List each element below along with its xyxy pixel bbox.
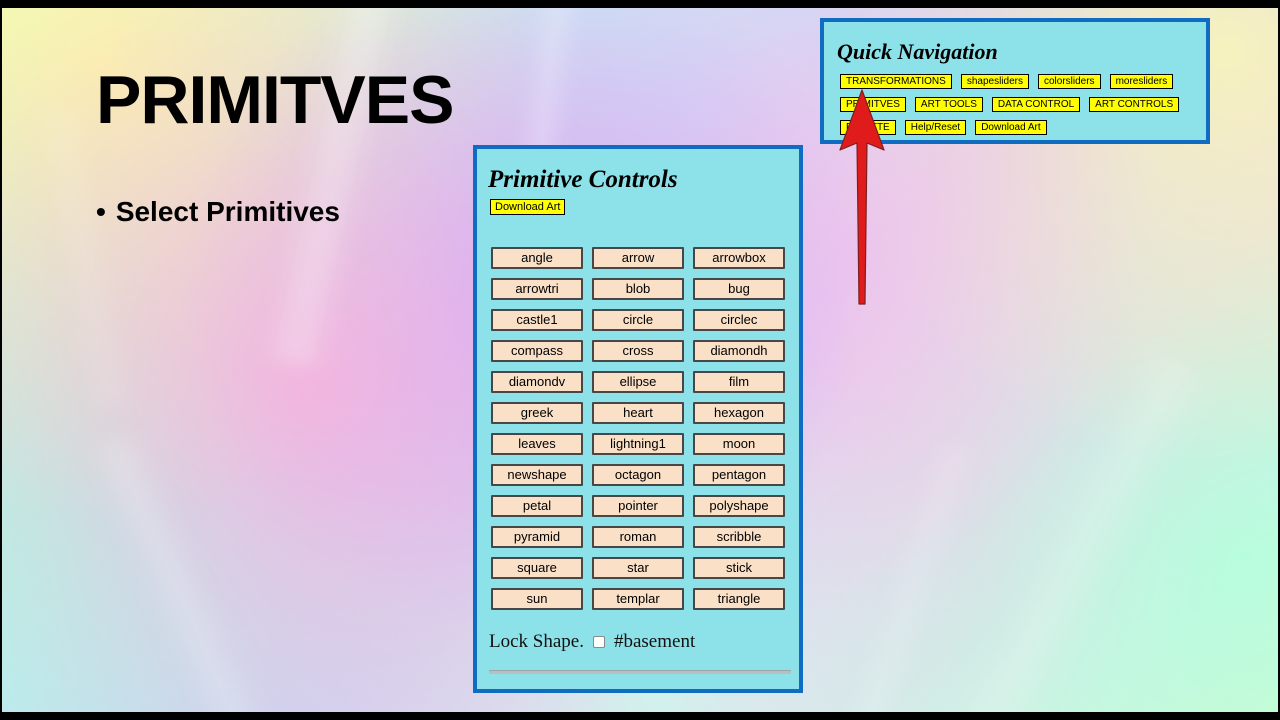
bullet-marker: •: [96, 196, 106, 227]
primitive-button-blob[interactable]: blob: [592, 278, 684, 300]
primitive-button-pointer[interactable]: pointer: [592, 495, 684, 517]
quick-navigation-buttons: TRANSFORMATIONS shapesliders colorslider…: [840, 74, 1200, 143]
primitive-controls-title: Primitive Controls: [488, 167, 678, 192]
primitive-button-stick[interactable]: stick: [693, 557, 785, 579]
nav-button-art-tools[interactable]: ART TOOLS: [915, 97, 983, 112]
primitive-button-greek[interactable]: greek: [491, 402, 583, 424]
bullet-point: •Select Primitives: [96, 196, 340, 228]
primitive-button-square[interactable]: square: [491, 557, 583, 579]
lock-shape-row: Lock Shape. #basement: [489, 631, 695, 653]
download-art-button[interactable]: Download Art: [490, 199, 565, 215]
nav-button-data-control[interactable]: DATA CONTROL: [992, 97, 1080, 112]
primitive-controls-panel: Primitive Controls Download Art anglearr…: [473, 145, 803, 693]
primitive-button-cross[interactable]: cross: [592, 340, 684, 362]
primitive-button-sun[interactable]: sun: [491, 588, 583, 610]
primitive-button-heart[interactable]: heart: [592, 402, 684, 424]
background-streak: [85, 430, 278, 712]
primitive-button-moon[interactable]: moon: [693, 433, 785, 455]
background-streak: [832, 438, 982, 712]
primitive-button-circlec[interactable]: circlec: [693, 309, 785, 331]
primitive-button-angle[interactable]: angle: [491, 247, 583, 269]
primitive-button-bug[interactable]: bug: [693, 278, 785, 300]
nav-button-help-reset[interactable]: Help/Reset: [905, 120, 966, 135]
primitive-button-diamondh[interactable]: diamondh: [693, 340, 785, 362]
primitive-button-octagon[interactable]: octagon: [592, 464, 684, 486]
primitive-button-arrowbox[interactable]: arrowbox: [693, 247, 785, 269]
primitive-button-leaves[interactable]: leaves: [491, 433, 583, 455]
quick-navigation-row: TRANSFORMATIONS shapesliders colorslider…: [840, 74, 1200, 91]
nav-button-palette[interactable]: PALETTE: [840, 120, 896, 135]
slide-canvas: PRIMITVES •Select Primitives Quick Navig…: [0, 0, 1280, 720]
nav-button-transformations[interactable]: TRANSFORMATIONS: [840, 74, 952, 89]
primitive-button-castle1[interactable]: castle1: [491, 309, 583, 331]
bullet-label: Select Primitives: [116, 196, 340, 227]
page-title: PRIMITVES: [96, 66, 454, 134]
primitive-button-scribble[interactable]: scribble: [693, 526, 785, 548]
lock-shape-checkbox[interactable]: [593, 636, 605, 648]
nav-button-moresliders[interactable]: moresliders: [1110, 74, 1174, 89]
primitive-button-roman[interactable]: roman: [592, 526, 684, 548]
anchor-label: #basement: [614, 631, 695, 653]
primitive-button-lightning1[interactable]: lightning1: [592, 433, 684, 455]
nav-button-download-art[interactable]: Download Art: [975, 120, 1046, 135]
primitive-button-pyramid[interactable]: pyramid: [491, 526, 583, 548]
quick-navigation-row: PALETTE Help/Reset Download Art: [840, 120, 1200, 137]
primitive-button-petal[interactable]: petal: [491, 495, 583, 517]
primitive-button-pentagon[interactable]: pentagon: [693, 464, 785, 486]
primitive-button-star[interactable]: star: [592, 557, 684, 579]
primitive-button-templar[interactable]: templar: [592, 588, 684, 610]
primitive-button-film[interactable]: film: [693, 371, 785, 393]
lock-shape-label: Lock Shape.: [489, 631, 584, 653]
quick-navigation-title: Quick Navigation: [837, 41, 998, 63]
background-streak: [948, 344, 1216, 712]
primitive-button-circle[interactable]: circle: [592, 309, 684, 331]
primitive-button-hexagon[interactable]: hexagon: [693, 402, 785, 424]
quick-navigation-panel: Quick Navigation TRANSFORMATIONS shapesl…: [820, 18, 1210, 144]
primitive-button-compass[interactable]: compass: [491, 340, 583, 362]
panel-divider: [489, 670, 791, 674]
nav-button-art-controls[interactable]: ART CONTROLS: [1089, 97, 1179, 112]
background-streak: [36, 106, 133, 409]
primitive-button-arrow[interactable]: arrow: [592, 247, 684, 269]
primitive-button-newshape[interactable]: newshape: [491, 464, 583, 486]
primitive-button-triangle[interactable]: triangle: [693, 588, 785, 610]
primitive-button-ellipse[interactable]: ellipse: [592, 371, 684, 393]
nav-button-primitves[interactable]: PRIMITVES: [840, 97, 906, 112]
primitive-button-diamondv[interactable]: diamondv: [491, 371, 583, 393]
nav-button-colorsliders[interactable]: colorsliders: [1038, 74, 1101, 89]
primitive-button-grid: anglearrowarrowboxarrowtriblobbugcastle1…: [491, 247, 791, 610]
primitive-button-arrowtri[interactable]: arrowtri: [491, 278, 583, 300]
primitive-button-polyshape[interactable]: polyshape: [693, 495, 785, 517]
quick-navigation-row: PRIMITVES ART TOOLS DATA CONTROL ART CON…: [840, 97, 1200, 114]
nav-button-shapesliders[interactable]: shapesliders: [961, 74, 1029, 89]
